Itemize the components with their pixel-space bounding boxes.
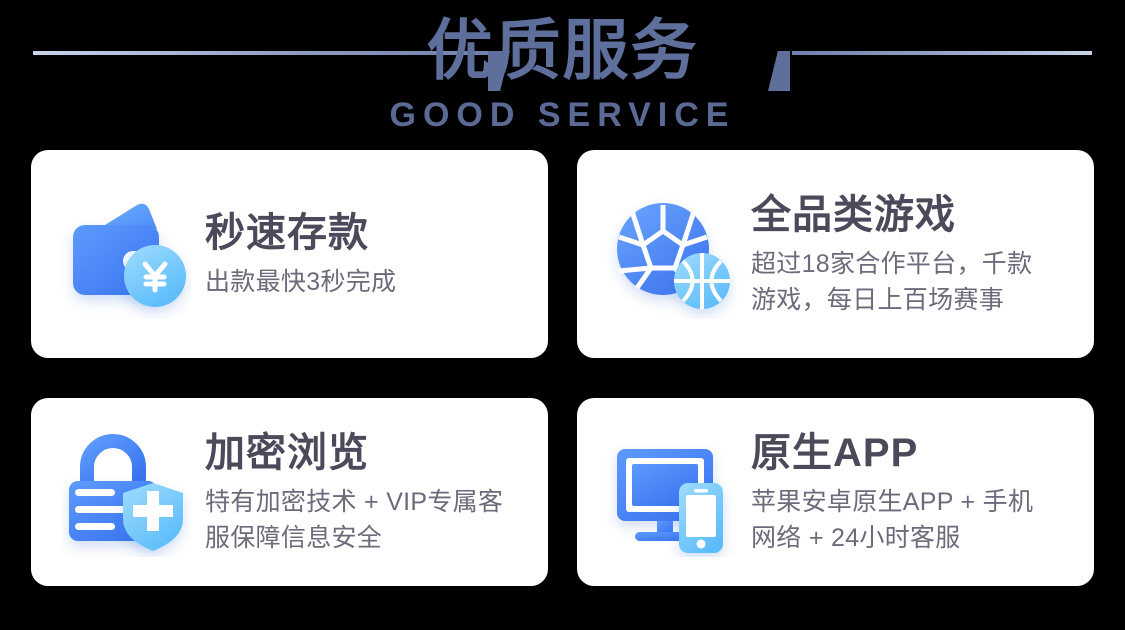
- card-subtitle: 特有加密技术 + VIP专属客 服保障信息安全: [205, 484, 534, 556]
- feature-card-text: 秒速存款 出款最快3秒完成: [205, 208, 548, 300]
- page-header: 优质服务 GOOD SERVICE: [0, 0, 1125, 140]
- card-subtitle-line: 网络 + 24小时客服: [751, 520, 1080, 556]
- card-subtitle-line: 特有加密技术 + VIP专属客: [205, 484, 534, 520]
- card-subtitle-line: 游戏，每日上百场赛事: [751, 282, 1080, 318]
- monitor-phone-icon: [607, 427, 737, 557]
- card-title: 加密浏览: [205, 428, 534, 478]
- card-subtitle: 出款最快3秒完成: [205, 264, 534, 300]
- card-subtitle: 超过18家合作平台，千款 游戏，每日上百场赛事: [751, 246, 1080, 318]
- feature-card-text: 全品类游戏 超过18家合作平台，千款 游戏，每日上百场赛事: [751, 190, 1094, 318]
- card-title: 原生APP: [751, 428, 1080, 478]
- page-subtitle: GOOD SERVICE: [0, 96, 1125, 134]
- feature-card-native-app[interactable]: 原生APP 苹果安卓原生APP + 手机 网络 + 24小时客服: [577, 398, 1094, 586]
- page-title: 优质服务: [0, 8, 1125, 92]
- card-subtitle: 苹果安卓原生APP + 手机 网络 + 24小时客服: [751, 484, 1080, 556]
- feature-card-grid: 秒速存款 出款最快3秒完成: [31, 150, 1094, 586]
- feature-card-games[interactable]: 全品类游戏 超过18家合作平台，千款 游戏，每日上百场赛事: [577, 150, 1094, 358]
- feature-card-text: 加密浏览 特有加密技术 + VIP专属客 服保障信息安全: [205, 428, 548, 556]
- card-subtitle-line: 服保障信息安全: [205, 520, 534, 556]
- card-title: 全品类游戏: [751, 190, 1080, 240]
- feature-card-text: 原生APP 苹果安卓原生APP + 手机 网络 + 24小时客服: [751, 428, 1094, 556]
- wallet-yen-icon: [61, 189, 191, 319]
- feature-card-encryption[interactable]: 加密浏览 特有加密技术 + VIP专属客 服保障信息安全: [31, 398, 548, 586]
- soccer-basketball-icon: [607, 189, 737, 319]
- lock-shield-icon: [61, 427, 191, 557]
- card-subtitle-line: 出款最快3秒完成: [205, 264, 534, 300]
- card-subtitle-line: 苹果安卓原生APP + 手机: [751, 484, 1080, 520]
- card-title: 秒速存款: [205, 208, 534, 258]
- card-subtitle-line: 超过18家合作平台，千款: [751, 246, 1080, 282]
- page-root: 优质服务 GOOD SERVICE: [0, 0, 1125, 630]
- feature-card-deposit[interactable]: 秒速存款 出款最快3秒完成: [31, 150, 548, 358]
